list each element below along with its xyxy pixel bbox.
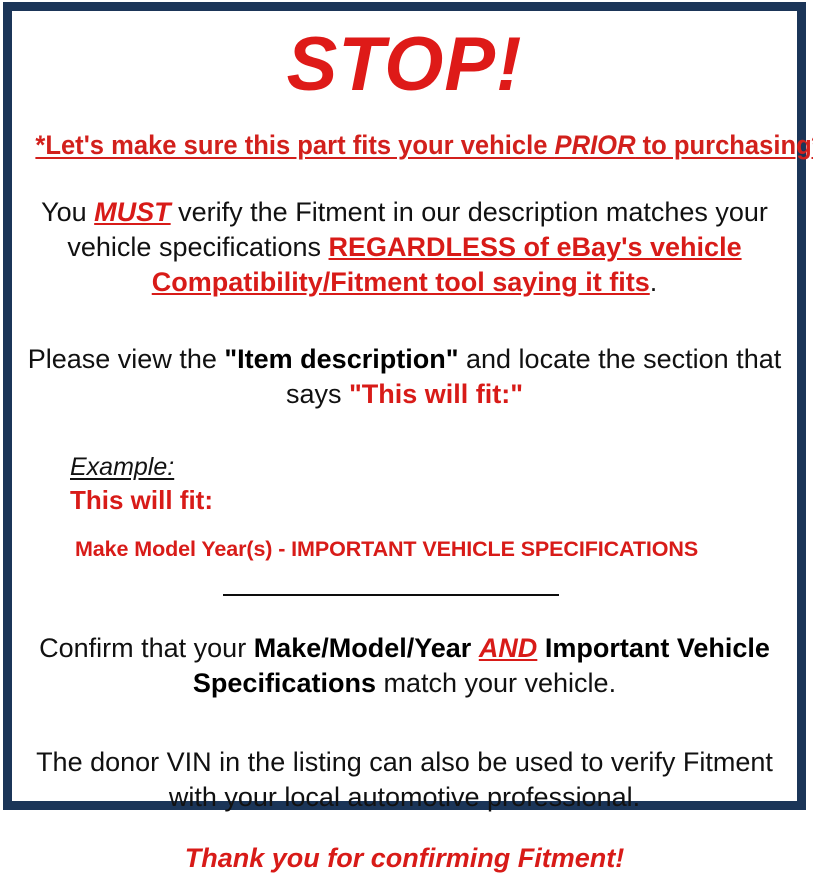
page-title: STOP! (22, 23, 787, 107)
closing-thank-you: Thank you for confirming Fitment! (22, 841, 787, 875)
example-block: Example: This will fit: Make Model Year(… (22, 452, 787, 562)
please-seg-1: Please view the (28, 344, 225, 374)
example-label: Example: (70, 452, 174, 482)
confirm-seg-3 (537, 633, 545, 663)
example-fit-line: This will fit: (70, 484, 787, 516)
confirm-paragraph: Confirm that your Make/Model/Year AND Im… (22, 631, 787, 701)
confirm-seg-1: Confirm that your (39, 633, 254, 663)
donor-vin-paragraph: The donor VIN in the listing can also be… (22, 745, 787, 815)
divider-row (22, 586, 787, 600)
please-view-paragraph: Please view the "Item description" and l… (22, 342, 787, 412)
confirm-emphasis-make-model-year: Make/Model/Year (254, 633, 472, 663)
subtitle-banner: *Let's make sure this part fits your veh… (35, 129, 773, 161)
please-emphasis-item-description: "Item description" (224, 344, 458, 374)
please-emphasis-this-will-fit: "This will fit:" (349, 379, 523, 409)
must-seg-1: You (41, 197, 94, 227)
fitment-notice-body: STOP! *Let's make sure this part fits yo… (12, 23, 797, 813)
subtitle-text-after: to purchasing* (636, 130, 813, 160)
confirm-seg-4: match your vehicle. (376, 668, 616, 698)
subtitle-text-before: *Let's make sure this part fits your veh… (35, 130, 554, 160)
confirm-seg-2 (471, 633, 479, 663)
fitment-notice-card: STOP! *Let's make sure this part fits yo… (3, 2, 806, 810)
example-spec-line: Make Model Year(s) - IMPORTANT VEHICLE S… (70, 536, 787, 562)
must-seg-3: . (650, 267, 658, 297)
section-divider (223, 594, 559, 596)
example-label-row: Example: (70, 452, 787, 482)
subtitle-emphasis-prior: PRIOR (555, 130, 636, 160)
must-verify-paragraph: You MUST verify the Fitment in our descr… (22, 195, 787, 300)
confirm-emphasis-and: AND (479, 633, 538, 663)
must-emphasis-must: MUST (94, 197, 171, 227)
